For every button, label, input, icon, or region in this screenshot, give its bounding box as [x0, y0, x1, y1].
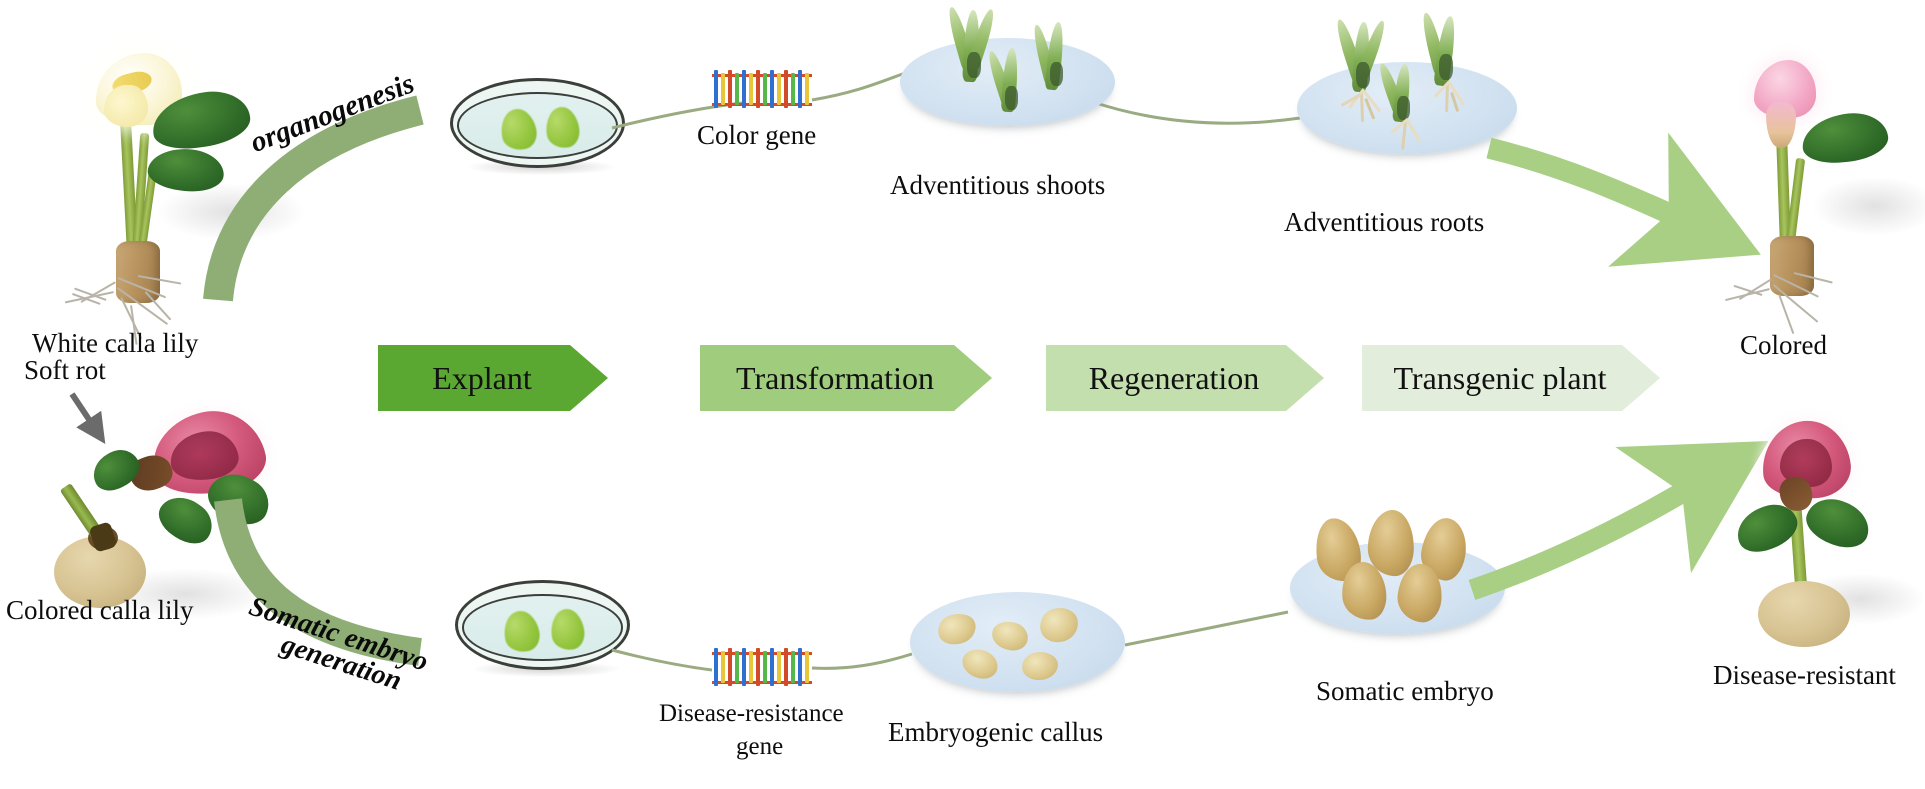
tuber	[1758, 581, 1850, 647]
leaf-right	[1800, 491, 1875, 554]
bottom-outcome-arrow	[0, 0, 1925, 789]
disease-resistant-plant-illustration	[1700, 415, 1925, 645]
label-disease-resistant: Disease-resistant	[1713, 660, 1896, 690]
figure-canvas: White calla lily organogenesis	[0, 0, 1925, 789]
